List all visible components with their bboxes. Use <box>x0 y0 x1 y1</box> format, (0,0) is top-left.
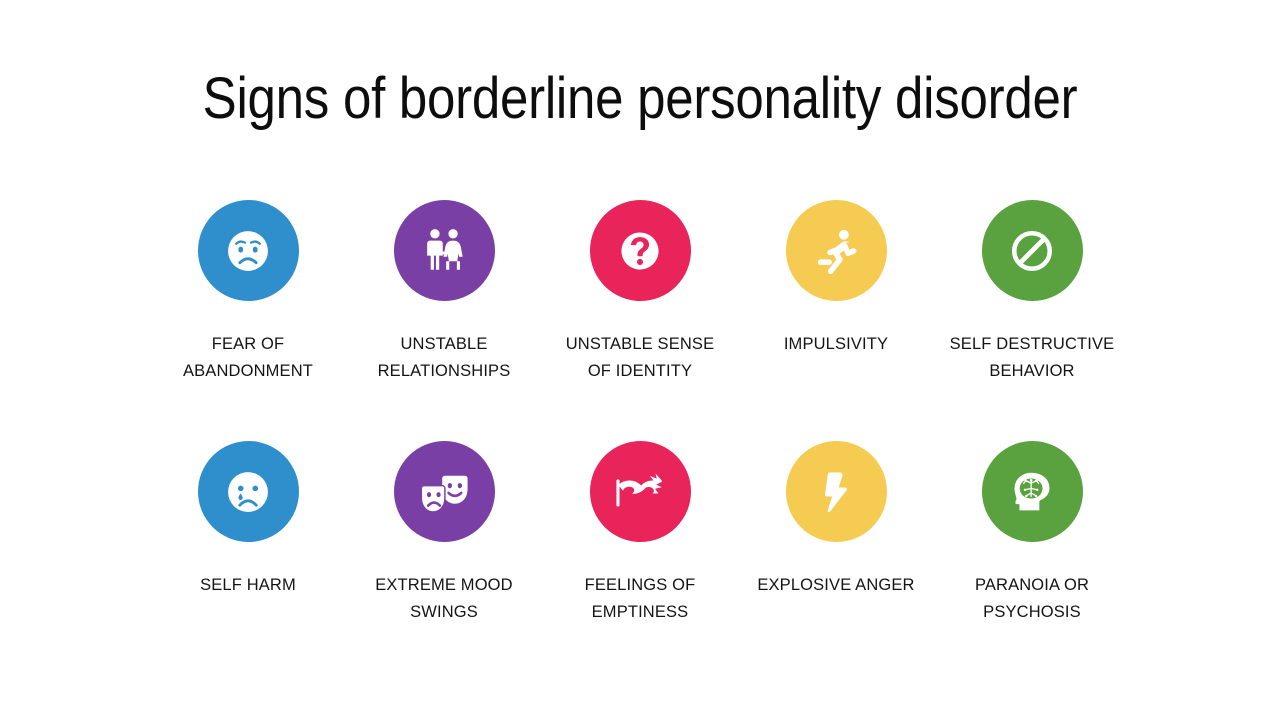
slide-canvas: Signs of borderline personality disorder <box>0 0 1280 721</box>
running-person-icon <box>808 223 864 279</box>
sign-label: UNSTABLE RELATIONSHIPS <box>378 331 511 384</box>
question-mark-icon <box>613 224 667 278</box>
lightning-bolt-icon <box>810 466 862 518</box>
head-brain-icon <box>1004 464 1060 520</box>
icon-badge-green <box>982 441 1083 542</box>
sign-item-unstable-relationships[interactable]: UNSTABLE RELATIONSHIPS <box>346 200 542 384</box>
sign-item-feelings-of-emptiness[interactable]: FEELINGS OF EMPTINESS <box>542 441 738 625</box>
page-title: Signs of borderline personality disorder <box>77 66 1203 133</box>
sign-item-self-harm[interactable]: SELF HARM <box>150 441 346 599</box>
sign-item-fear-of-abandonment[interactable]: FEAR OF ABANDONMENT <box>150 200 346 384</box>
signs-row-2: SELF HARM <box>150 441 1130 625</box>
sign-label: PARANOIA OR PSYCHOSIS <box>975 572 1089 625</box>
sign-item-impulsivity[interactable]: IMPULSIVITY <box>738 200 934 358</box>
sign-item-unstable-sense-of-identity[interactable]: UNSTABLE SENSE OF IDENTITY <box>542 200 738 384</box>
sign-item-self-destructive-behavior[interactable]: SELF DESTRUCTIVE BEHAVIOR <box>934 200 1130 384</box>
icon-badge-purple <box>394 441 495 542</box>
icon-badge-yellow <box>786 200 887 301</box>
sign-item-explosive-anger[interactable]: EXPLOSIVE ANGER <box>738 441 934 599</box>
icon-badge-crimson <box>590 441 691 542</box>
icon-badge-green <box>982 200 1083 301</box>
sign-label: EXTREME MOOD SWINGS <box>375 572 512 625</box>
sign-item-extreme-mood-swings[interactable]: EXTREME MOOD SWINGS <box>346 441 542 625</box>
signs-row-1: FEAR OF ABANDONMENT <box>150 200 1130 384</box>
sign-item-paranoia-or-psychosis[interactable]: PARANOIA OR PSYCHOSIS <box>934 441 1130 625</box>
icon-badge-blue <box>198 200 299 301</box>
couple-icon <box>415 222 473 280</box>
icon-badge-crimson <box>590 200 691 301</box>
sign-label: SELF HARM <box>200 572 296 599</box>
icon-badge-blue <box>198 441 299 542</box>
crying-face-icon <box>219 463 277 521</box>
sign-label: FEAR OF ABANDONMENT <box>183 331 313 384</box>
sign-label: IMPULSIVITY <box>784 331 888 358</box>
worried-face-icon <box>219 222 277 280</box>
icon-badge-purple <box>394 200 495 301</box>
theater-masks-icon <box>415 463 473 521</box>
signs-grid: FEAR OF ABANDONMENT <box>150 200 1130 626</box>
sign-label: FEELINGS OF EMPTINESS <box>585 572 696 625</box>
icon-badge-yellow <box>786 441 887 542</box>
sign-label: EXPLOSIVE ANGER <box>757 572 914 599</box>
sign-label: UNSTABLE SENSE OF IDENTITY <box>566 331 715 384</box>
masquerade-mask-icon <box>611 463 669 521</box>
sign-label: SELF DESTRUCTIVE BEHAVIOR <box>950 331 1115 384</box>
prohibition-icon <box>1005 224 1059 278</box>
